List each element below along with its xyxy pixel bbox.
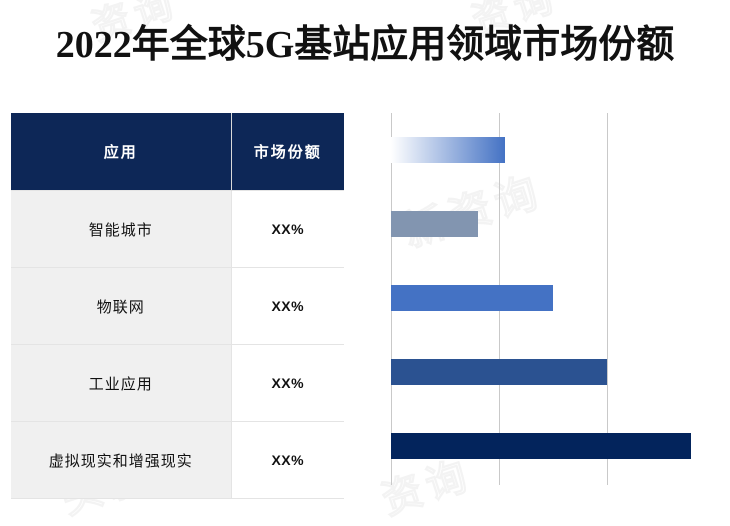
column-header-application: 应用 [11, 113, 231, 191]
table-header: 应用 市场份额 [11, 113, 344, 191]
table-header-row: 应用 市场份额 [11, 113, 344, 191]
table-row: 物联网 XX% [11, 268, 344, 345]
bar-4 [391, 433, 691, 459]
bar-0 [391, 137, 505, 163]
market-share-table: 应用 市场份额 智能城市 XX% 物联网 XX% 工业应用 XX% 虚拟现实和增… [11, 113, 344, 499]
cell-market-share: XX% [231, 268, 344, 345]
cell-market-share: XX% [231, 191, 344, 268]
bar-2 [391, 285, 553, 311]
page-title: 2022年全球5G基站应用领域市场份额 [0, 22, 730, 68]
table-row: 虚拟现实和增强现实 XX% [11, 422, 344, 499]
cell-market-share: XX% [231, 345, 344, 422]
bar-1 [391, 211, 478, 237]
market-share-bar-chart [370, 108, 720, 490]
table-body: 智能城市 XX% 物联网 XX% 工业应用 XX% 虚拟现实和增强现实 XX% [11, 191, 344, 499]
table-row: 智能城市 XX% [11, 191, 344, 268]
gridline-2 [607, 113, 608, 485]
cell-application: 虚拟现实和增强现实 [11, 422, 231, 499]
cell-market-share: XX% [231, 422, 344, 499]
cell-application: 智能城市 [11, 191, 231, 268]
bar-3 [391, 359, 607, 385]
column-header-market-share: 市场份额 [231, 113, 344, 191]
table-row: 工业应用 XX% [11, 345, 344, 422]
cell-application: 工业应用 [11, 345, 231, 422]
cell-application: 物联网 [11, 268, 231, 345]
